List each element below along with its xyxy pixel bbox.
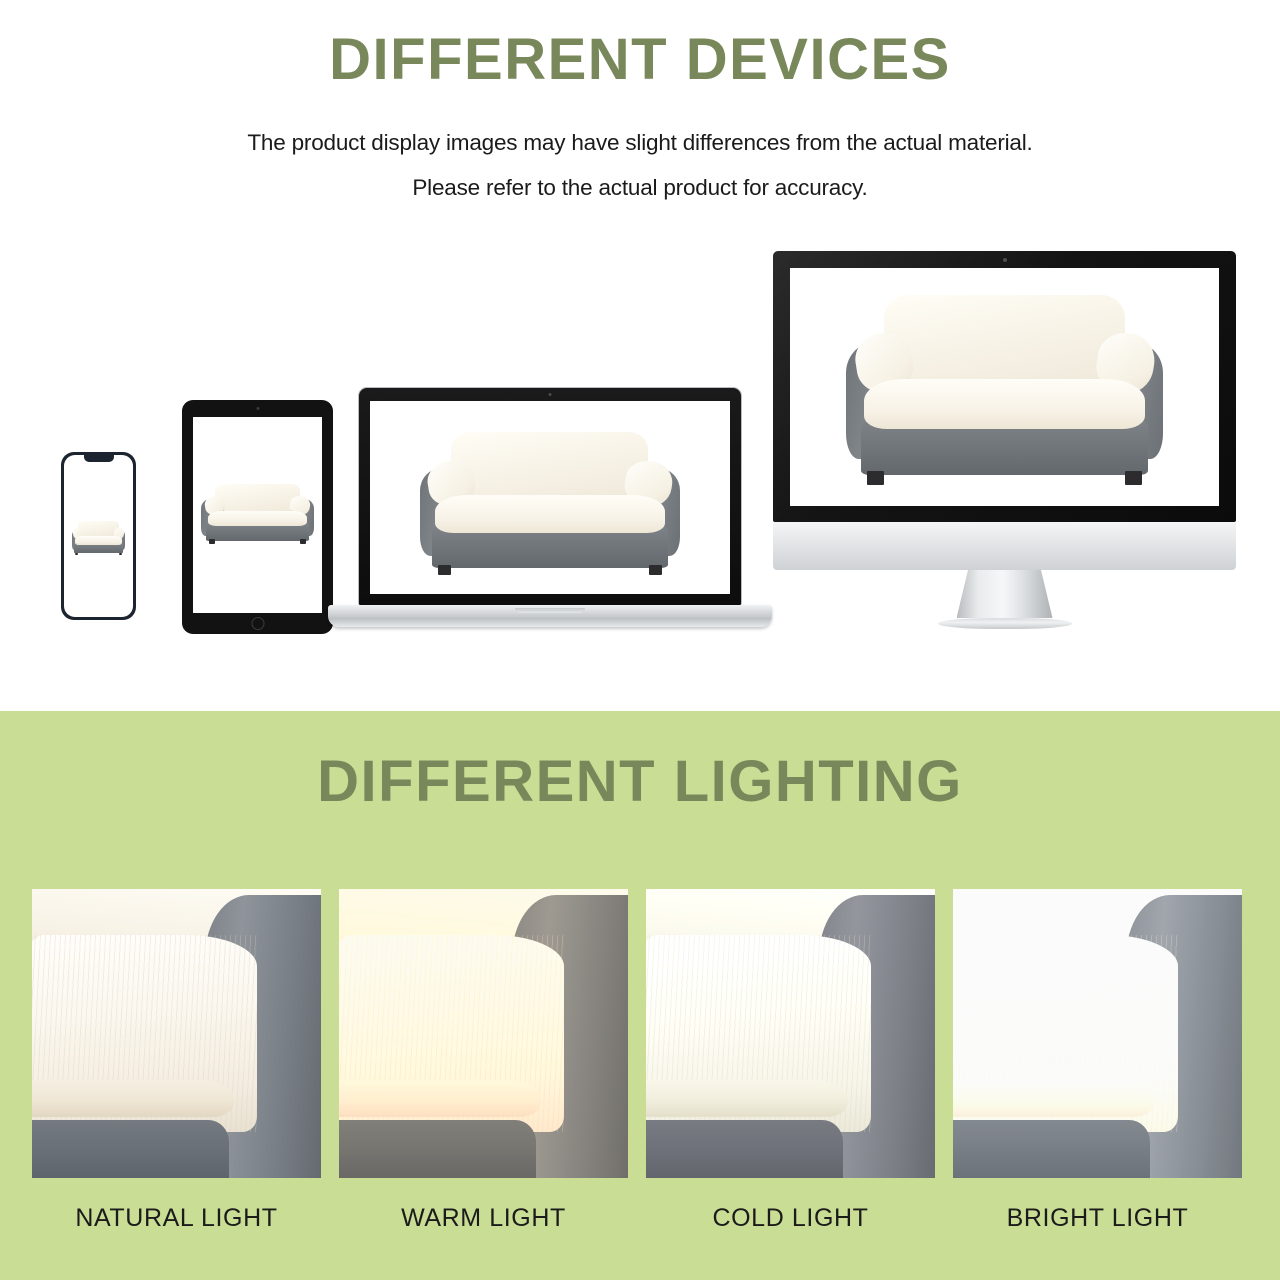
product-image-monitor <box>837 287 1172 487</box>
sofa-foot-left <box>75 553 78 555</box>
sofa-seat-cushion <box>75 536 123 545</box>
sofa-foot-right <box>119 553 122 555</box>
lighting-tile-bright: BRIGHT LIGHT <box>953 889 1242 1233</box>
lighting-label-cold: COLD LIGHT <box>646 1204 935 1233</box>
closeup-base-skirt <box>953 1120 1150 1178</box>
sofa-foot-right <box>1125 471 1142 485</box>
product-image-phone <box>70 520 127 556</box>
lighting-tile-warm: WARM LIGHT <box>339 889 628 1233</box>
lighting-label-bright: BRIGHT LIGHT <box>953 1204 1242 1233</box>
subtitle-line-2: Please refer to the actual product for a… <box>0 175 1280 201</box>
tablet-home-button-icon <box>251 617 264 630</box>
lighting-photo-warm <box>339 889 628 1178</box>
sofa-seat-cushion <box>208 511 308 527</box>
lighting-tile-cold: COLD LIGHT <box>646 889 935 1233</box>
monitor-stand-neck <box>957 570 1053 618</box>
laptop-screen <box>370 401 730 594</box>
monitor-screen <box>790 268 1219 506</box>
product-image-tablet <box>198 482 317 545</box>
sofa-foot-right <box>300 539 306 543</box>
laptop-lid <box>358 387 742 605</box>
subtitle-line-1: The product display images may have slig… <box>0 130 1280 156</box>
laptop-camera-icon <box>549 393 552 396</box>
sofa-foot-left <box>209 539 215 543</box>
lighting-tiles-row: NATURAL LIGHT WARM LIGHT <box>32 889 1248 1233</box>
sofa-backrest <box>884 295 1125 383</box>
different-lighting-section: DIFFERENT LIGHTING NATURAL LIGHT <box>0 711 1280 1280</box>
sofa-seat-cushion <box>435 495 665 533</box>
closeup-cushion-welt <box>646 1080 848 1118</box>
monitor-camera-icon <box>1003 258 1007 262</box>
closeup-cushion-welt <box>339 1080 541 1118</box>
monitor-stand-foot <box>938 618 1072 629</box>
different-devices-section: DIFFERENT DEVICES The product display im… <box>0 0 1280 711</box>
phone-notch-icon <box>84 455 114 462</box>
lighting-tile-natural: NATURAL LIGHT <box>32 889 321 1233</box>
page-title: DIFFERENT DEVICES <box>0 26 1280 93</box>
smartphone-mockup <box>61 452 136 620</box>
lighting-label-natural: NATURAL LIGHT <box>32 1204 321 1233</box>
sofa-foot-left <box>438 565 452 576</box>
closeup-base-skirt <box>646 1120 843 1178</box>
tablet-camera-icon <box>256 407 259 410</box>
lighting-photo-natural <box>32 889 321 1178</box>
sofa-seat-cushion <box>864 379 1145 429</box>
sofa-foot-right <box>649 565 663 576</box>
sofa-backrest <box>451 432 648 498</box>
closeup-base-skirt <box>32 1120 229 1178</box>
closeup-base-skirt <box>339 1120 536 1178</box>
monitor-chin <box>773 522 1236 570</box>
desktop-monitor-mockup <box>773 251 1236 629</box>
lighting-photo-cold <box>646 889 935 1178</box>
tablet-screen <box>193 417 322 613</box>
phone-screen <box>64 455 133 617</box>
sofa-backrest <box>215 484 300 512</box>
lighting-photo-bright <box>953 889 1242 1178</box>
product-image-laptop <box>413 426 687 577</box>
tablet-mockup <box>182 400 333 634</box>
closeup-cushion-welt <box>32 1080 234 1118</box>
closeup-cushion-welt <box>953 1080 1155 1118</box>
monitor-bezel <box>773 251 1236 522</box>
lighting-title: DIFFERENT LIGHTING <box>0 748 1280 815</box>
sofa-foot-left <box>867 471 884 485</box>
laptop-base <box>328 605 772 627</box>
laptop-mockup <box>358 387 802 627</box>
lighting-label-warm: WARM LIGHT <box>339 1204 628 1233</box>
